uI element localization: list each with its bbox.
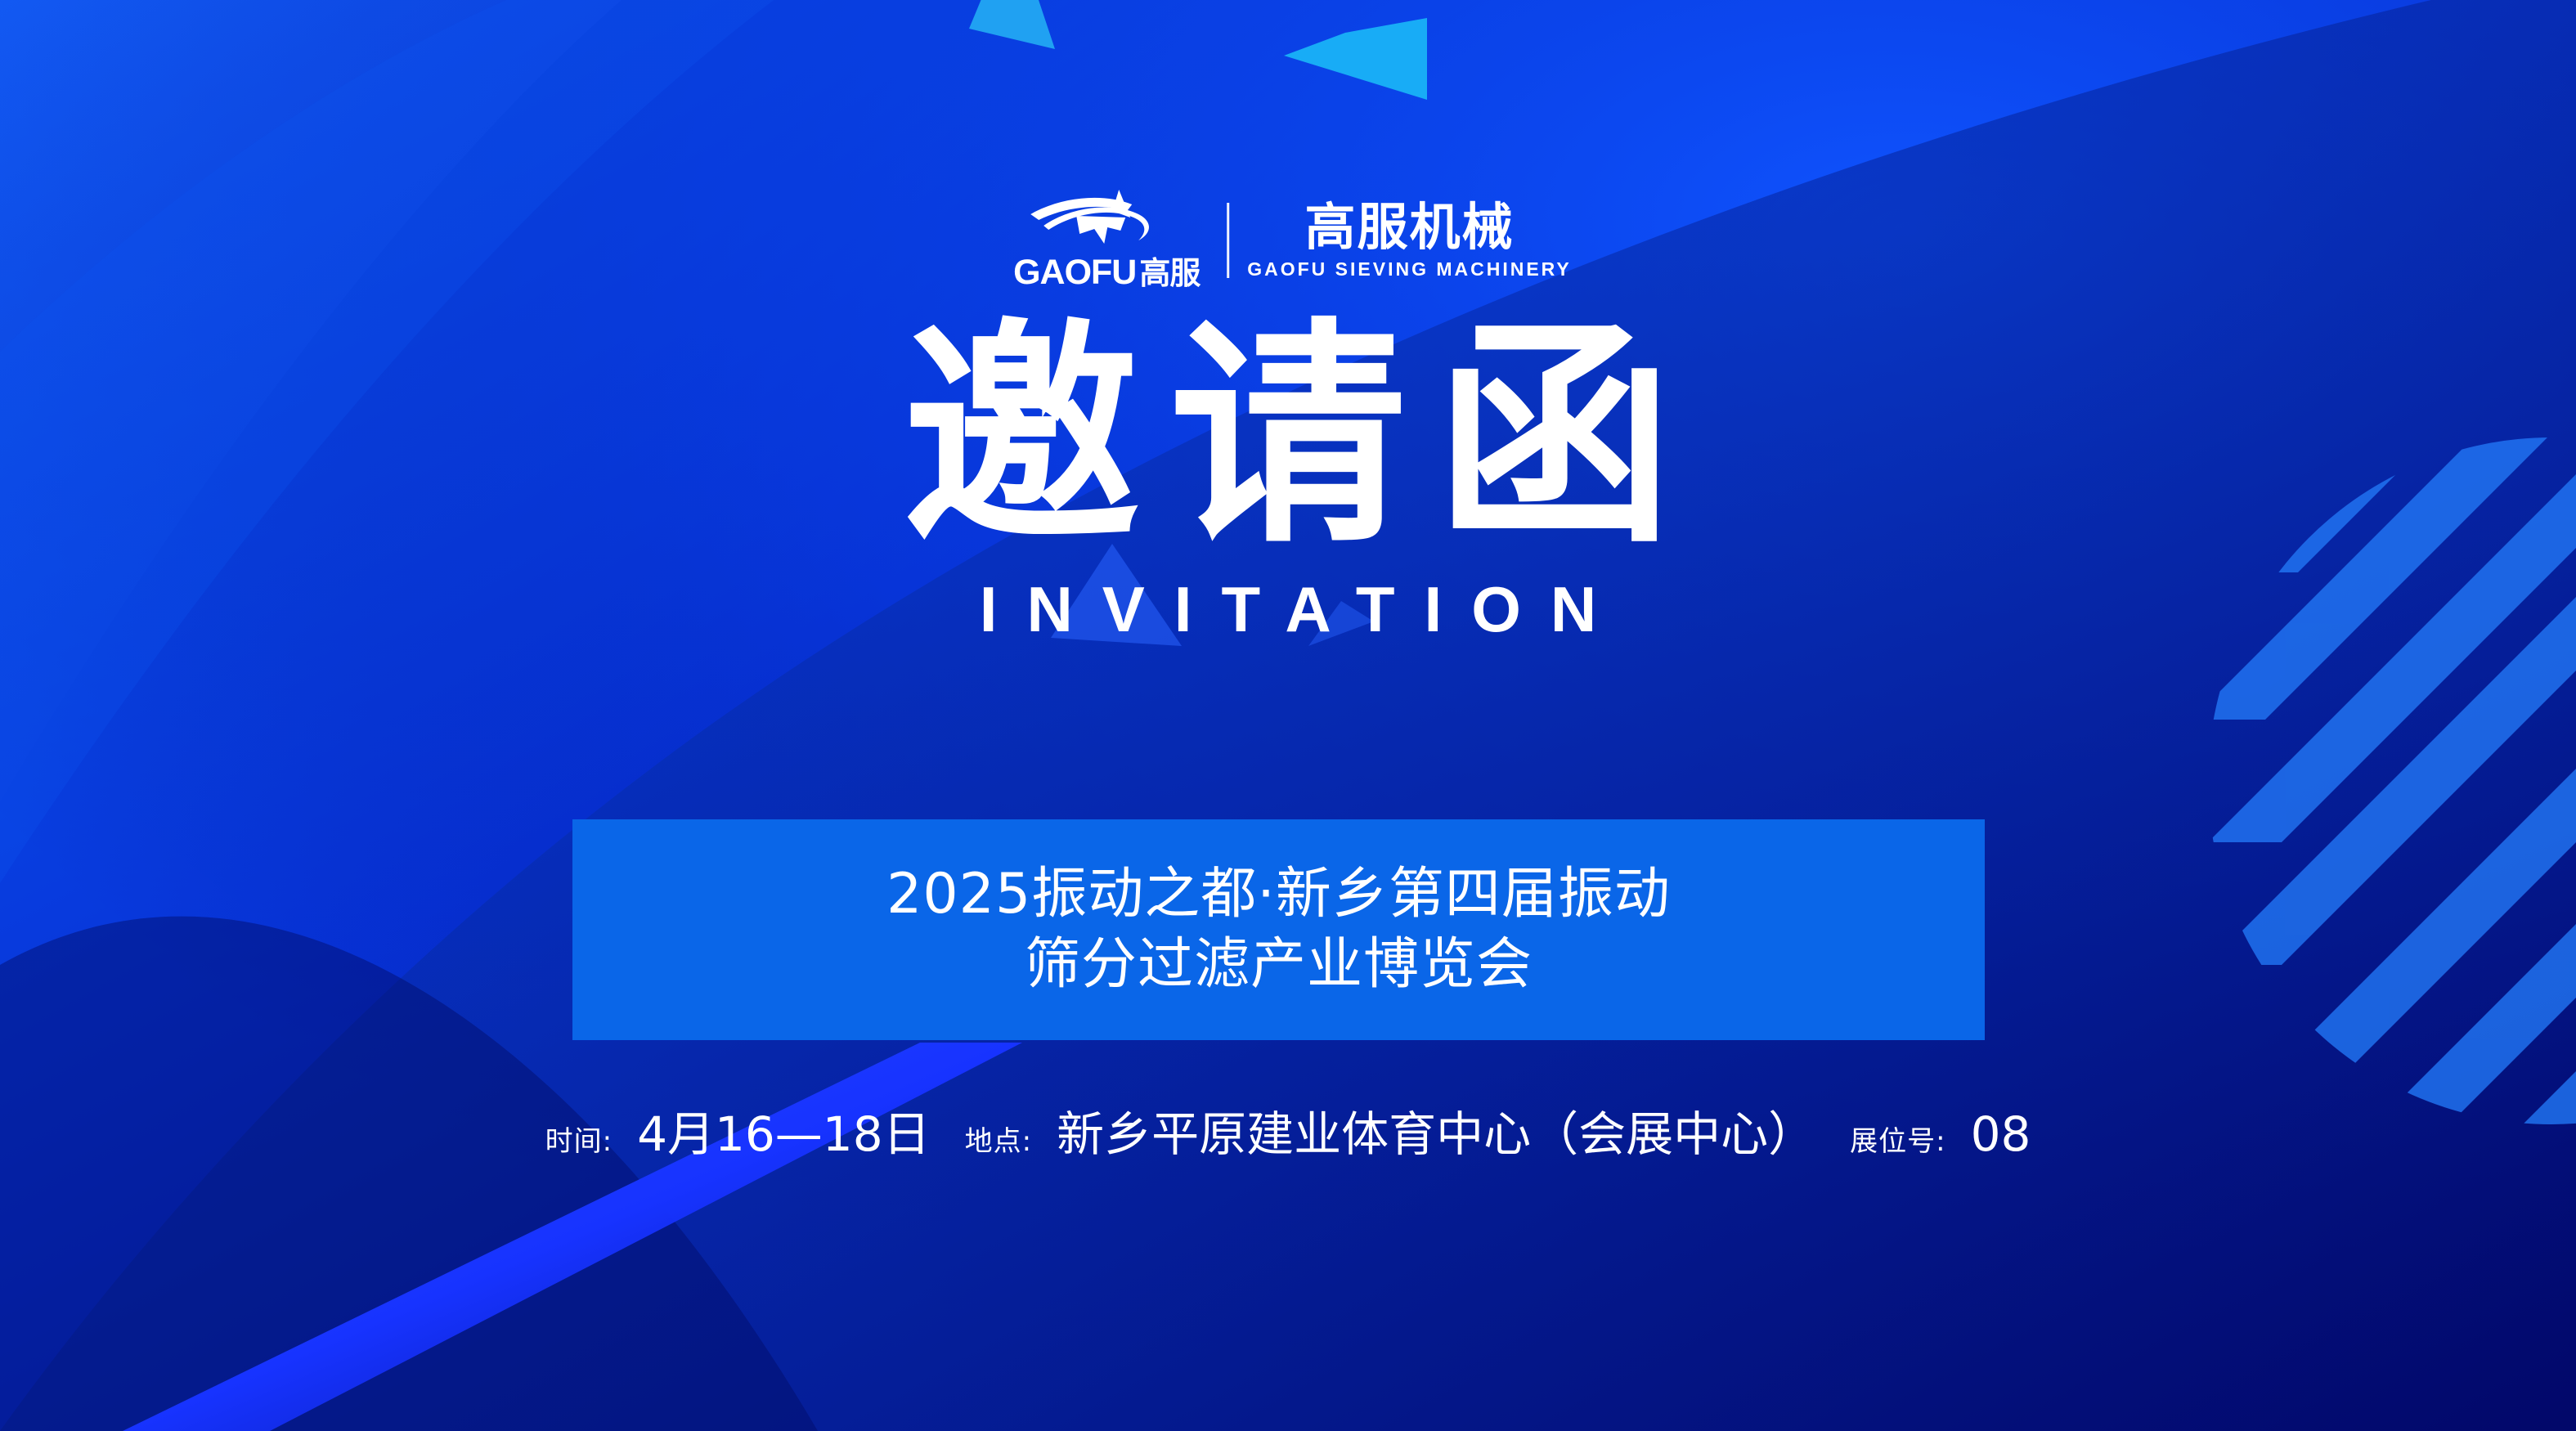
booth-value: 08 — [1971, 1106, 2031, 1162]
event-info-row: 时间: 4月16—18日 地点: 新乡平原建业体育中心（会展中心） 展位号: 0… — [0, 1096, 2576, 1164]
logo-cjk-name: 高服 — [1139, 258, 1200, 289]
time-label: 时间: — [545, 1119, 613, 1159]
eagle-swoosh-icon — [1029, 190, 1184, 253]
place-value: 新乡平原建业体育中心（会展中心） — [1057, 1096, 1815, 1164]
cyan-triangle-icon-right — [1284, 18, 1427, 100]
event-name-line-1: 2025振动之都·新乡第四届振动 — [886, 859, 1671, 930]
booth-label: 展位号: — [1850, 1119, 1945, 1159]
company-name-cn: 高服机械 — [1304, 202, 1514, 253]
time-value: 4月16—18日 — [637, 1096, 931, 1164]
logo-divider — [1227, 203, 1229, 278]
company-name-en: GAOFU SIEVING MACHINERY — [1247, 260, 1572, 279]
page-subtitle: INVITATION — [0, 577, 2576, 641]
event-name-banner: 2025振动之都·新乡第四届振动 筛分过滤产业博览会 — [572, 819, 1985, 1040]
company-logo: GAOFU 高服 高服机械 GAOFU SIEVING MACHINERY — [1004, 190, 1572, 290]
place-label: 地点: — [965, 1119, 1032, 1159]
logo-right-group: 高服机械 GAOFU SIEVING MACHINERY — [1247, 202, 1572, 279]
cyan-triangle-icon-left — [969, 0, 1055, 49]
logo-wordmark: GAOFU 高服 — [1013, 255, 1200, 290]
title-block: 邀请函 INVITATION — [0, 319, 2576, 641]
page-title: 邀请函 — [0, 319, 2576, 556]
logo-left-group: GAOFU 高服 — [1004, 190, 1209, 290]
logo-latin-name: GAOFU — [1013, 255, 1136, 290]
invitation-poster: GAOFU 高服 高服机械 GAOFU SIEVING MACHINERY 邀请… — [0, 0, 2576, 1431]
event-name-line-2: 筛分过滤产业博览会 — [1025, 930, 1533, 1000]
